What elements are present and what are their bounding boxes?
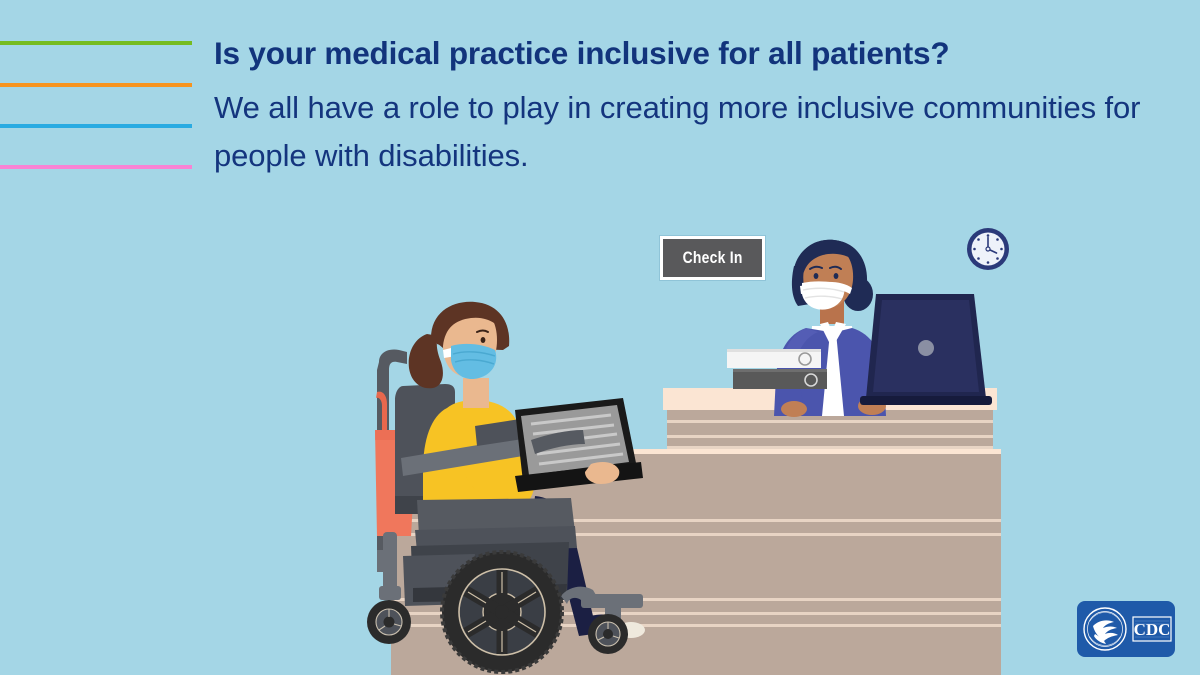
wheelchair-user [355, 300, 665, 660]
wheelchair-main-wheel [442, 552, 562, 672]
page-subtitle: We all have a role to play in creating m… [214, 84, 1200, 180]
page-title: Is your medical practice inclusive for a… [214, 36, 1174, 71]
cdc-wordmark-text: CDC [1134, 620, 1171, 639]
desk-panel-line [667, 420, 993, 423]
patient-tablet [515, 398, 643, 492]
patient-hand [585, 462, 619, 484]
desk-panel-line [667, 435, 993, 438]
decor-rule-green [0, 41, 192, 45]
decor-rule-pink [0, 165, 192, 169]
cdc-logo: CDC [1077, 601, 1175, 657]
check-in-sign: Check In [660, 236, 765, 280]
binder-stack [723, 345, 833, 395]
hhs-seal-icon [1084, 608, 1126, 650]
front-caster-wheel [588, 614, 628, 654]
patient-head [409, 302, 510, 389]
cdc-wordmark: CDC [1133, 617, 1171, 641]
decor-rule-orange [0, 83, 192, 87]
poster-canvas: Is your medical practice inclusive for a… [0, 0, 1200, 675]
check-in-sign-label: Check In [682, 248, 742, 268]
decor-rule-blue [0, 124, 192, 128]
